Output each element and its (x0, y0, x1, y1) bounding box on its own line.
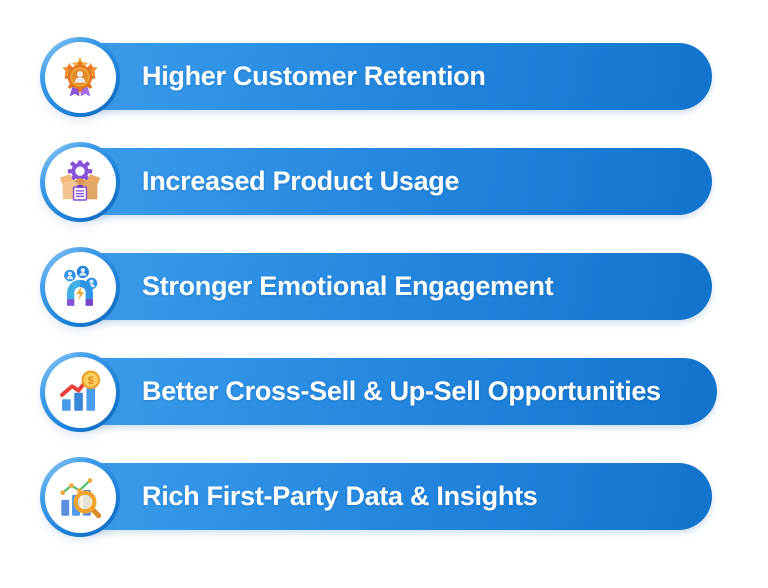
icon-badge-face: $ (45, 357, 116, 428)
benefit-label: Rich First-Party Data & Insights (142, 483, 537, 510)
icon-badge-ring (40, 37, 120, 117)
icon-badge-ring: $ (40, 352, 120, 432)
icon-badge-face (45, 462, 116, 533)
icon-badge: $ (40, 352, 120, 432)
benefit-bar[interactable]: Higher Customer Retention (80, 43, 712, 110)
open-box-gear-clipboard-icon (57, 159, 103, 205)
benefit-label: Stronger Emotional Engagement (142, 273, 553, 300)
icon-badge-ring (40, 247, 120, 327)
benefit-label: Better Cross-Sell & Up-Sell Opportunitie… (142, 378, 661, 405)
benefits-infographic: Higher Customer Retention (0, 0, 768, 588)
icon-badge-face (45, 42, 116, 113)
bar-chart-arrow-dollar-coin-icon: $ (57, 369, 103, 415)
icon-badge (40, 142, 120, 222)
icon-badge-face (45, 252, 116, 323)
icon-badge-ring (40, 457, 120, 537)
benefit-bar[interactable]: Better Cross-Sell & Up-Sell Opportunitie… (80, 358, 717, 425)
bar-chart-magnifier-icon (57, 474, 103, 520)
magnet-attracting-users-icon (57, 264, 103, 310)
icon-badge-face (45, 147, 116, 218)
list-item: Increased Product Usage (0, 142, 768, 246)
benefit-label: Increased Product Usage (142, 168, 459, 195)
icon-badge (40, 37, 120, 117)
list-item: Higher Customer Retention (0, 37, 768, 141)
icon-badge-ring (40, 142, 120, 222)
list-item: Stronger Emotional Engagement (0, 247, 768, 351)
benefit-bar[interactable]: Increased Product Usage (80, 148, 712, 215)
icon-badge (40, 247, 120, 327)
benefit-bar[interactable]: Rich First-Party Data & Insights (80, 463, 712, 530)
svg-text:$: $ (88, 375, 94, 387)
list-item: Better Cross-Sell & Up-Sell Opportunitie… (0, 352, 768, 456)
list-item: Rich First-Party Data & Insights (0, 457, 768, 561)
benefit-label: Higher Customer Retention (142, 63, 486, 90)
icon-badge (40, 457, 120, 537)
benefit-bar[interactable]: Stronger Emotional Engagement (80, 253, 712, 320)
award-badge-person-icon (57, 54, 103, 100)
